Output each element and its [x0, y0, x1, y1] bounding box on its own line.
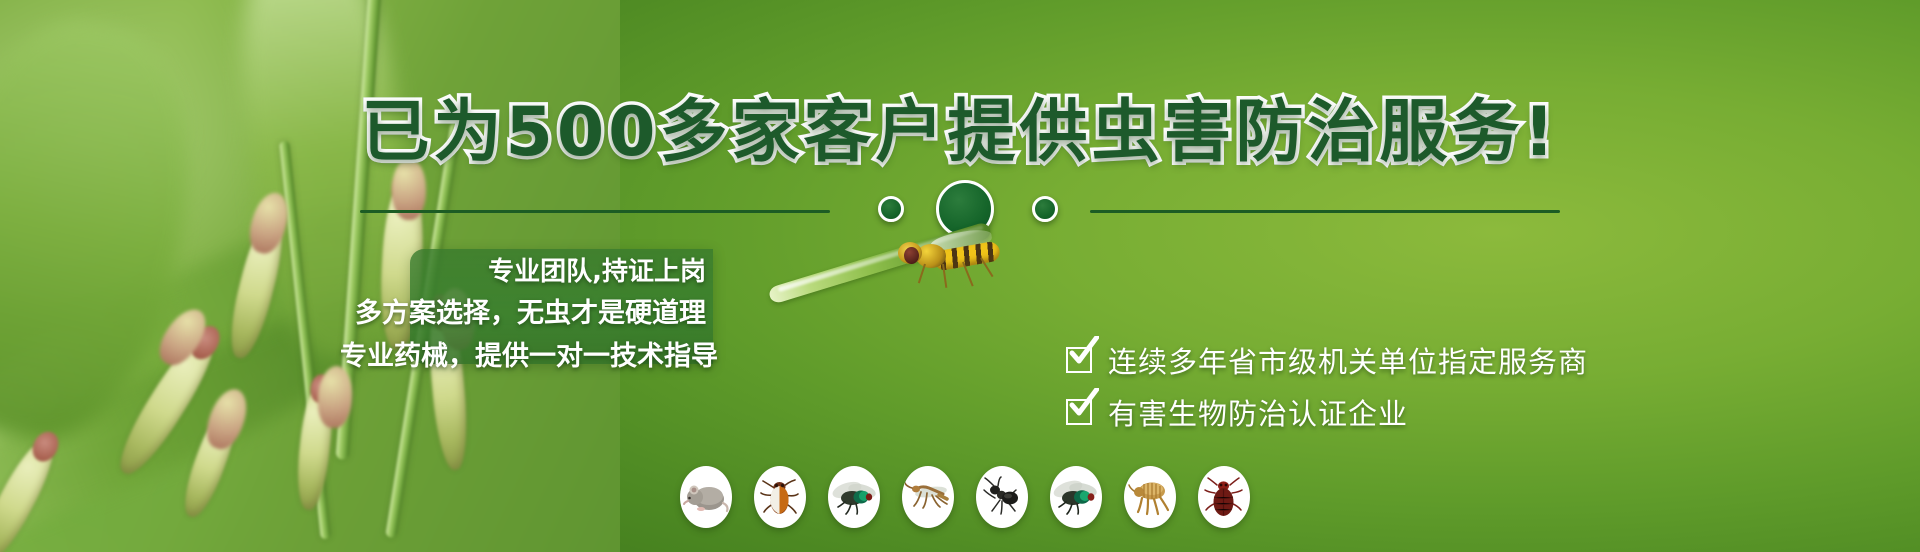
checkbox-checked-icon [1066, 399, 1092, 425]
divider-right [1090, 210, 1560, 213]
fly-head [898, 242, 922, 264]
mosquito-icon[interactable] [902, 466, 954, 528]
flea-icon[interactable] [1124, 466, 1176, 528]
ant-icon[interactable] [976, 466, 1028, 528]
fly-eye [904, 247, 919, 264]
list-item: 连续多年省市级机关单位指定服务商 [1066, 334, 1588, 386]
checklist-label: 有害生物防治认证企业 [1108, 391, 1408, 433]
bedbug-icon[interactable] [1198, 466, 1250, 528]
mouse-icon[interactable] [680, 466, 732, 528]
checkbox-checked-icon [1066, 347, 1092, 373]
fly-leg [918, 264, 926, 284]
hoverfly-icon [890, 236, 1010, 288]
fly-icon[interactable] [828, 466, 880, 528]
slogan-line-1: 专业团队,持证上岗 [340, 252, 706, 293]
pest-icon-strip [680, 466, 1250, 528]
hoverfly-illustration [770, 230, 1020, 350]
headline-text: 已为500多家客户提供虫害防治服务! [362, 93, 1559, 172]
slogan-list: 专业团队,持证上岗 多方案选择，无虫才是硬道理 专业药械，提供一对一技术指导 [340, 252, 730, 378]
page-title: 已为500多家客户提供虫害防治服务! [0, 76, 1920, 175]
checklist-label: 连续多年省市级机关单位指定服务商 [1108, 339, 1588, 381]
slogan-line-3: 专业药械，提供一对一技术指导 [340, 336, 706, 379]
pest-control-hero-banner: 已为500多家客户提供虫害防治服务! 专业团队,持证上岗 多方案选择，无虫才是硬… [0, 0, 1920, 552]
blowfly-icon[interactable] [1050, 466, 1102, 528]
credentials-checklist: 连续多年省市级机关单位指定服务商 有害生物防治认证企业 [1066, 334, 1588, 438]
divider-left [360, 210, 830, 213]
dot-small-right [1032, 196, 1058, 222]
cockroach-icon[interactable] [754, 466, 806, 528]
list-item: 有害生物防治认证企业 [1066, 386, 1588, 438]
dot-small-left [878, 196, 904, 222]
slogan-line-2: 多方案选择，无虫才是硬道理 [340, 293, 706, 336]
